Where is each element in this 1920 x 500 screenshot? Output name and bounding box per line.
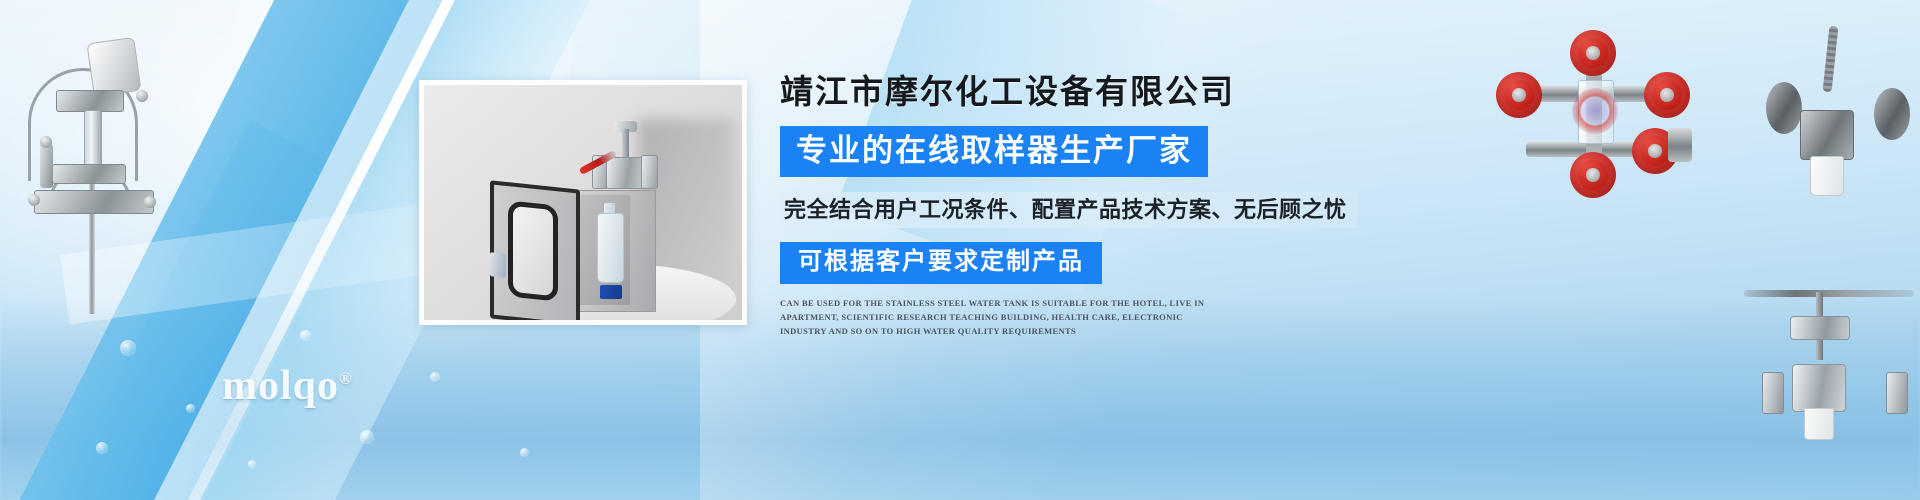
brand-watermark: molqo® <box>222 362 353 410</box>
registered-trademark-icon: ® <box>339 369 353 388</box>
water-droplet <box>120 340 136 356</box>
water-droplet <box>430 372 440 382</box>
sub-headline: 完全结合用户工况条件、配置产品技术方案、无后顾之忧 <box>780 192 1357 229</box>
center-product-photo <box>419 80 747 325</box>
left-equipment-illustration <box>12 24 172 314</box>
water-droplet <box>520 448 529 457</box>
company-name: 靖江市摩尔化工设备有限公司 <box>780 74 1420 113</box>
product-photo-image <box>424 85 742 320</box>
english-description: CAN BE USED FOR THE STAINLESS STEEL WATE… <box>780 297 1210 338</box>
water-droplet <box>360 430 374 444</box>
water-droplet <box>300 330 311 341</box>
water-droplet <box>96 442 108 454</box>
primary-headline-bar: 专业的在线取样器生产厂家 <box>780 126 1208 177</box>
cross-valve-illustration <box>1496 24 1696 184</box>
water-droplet <box>186 404 195 413</box>
watermark-text: molqo <box>222 363 339 409</box>
headline-block: 靖江市摩尔化工设备有限公司 专业的在线取样器生产厂家 完全结合用户工况条件、配置… <box>780 74 1420 339</box>
sampling-valve-illustration <box>592 123 658 193</box>
handwheel-valve-illustration <box>1758 268 1918 448</box>
lever-valve-illustration <box>1766 26 1916 216</box>
water-droplet <box>248 460 256 468</box>
promo-banner: 靖江市摩尔化工设备有限公司 专业的在线取样器生产厂家 完全结合用户工况条件、配置… <box>0 0 1920 500</box>
secondary-headline-bar: 可根据客户要求定制产品 <box>780 242 1102 284</box>
